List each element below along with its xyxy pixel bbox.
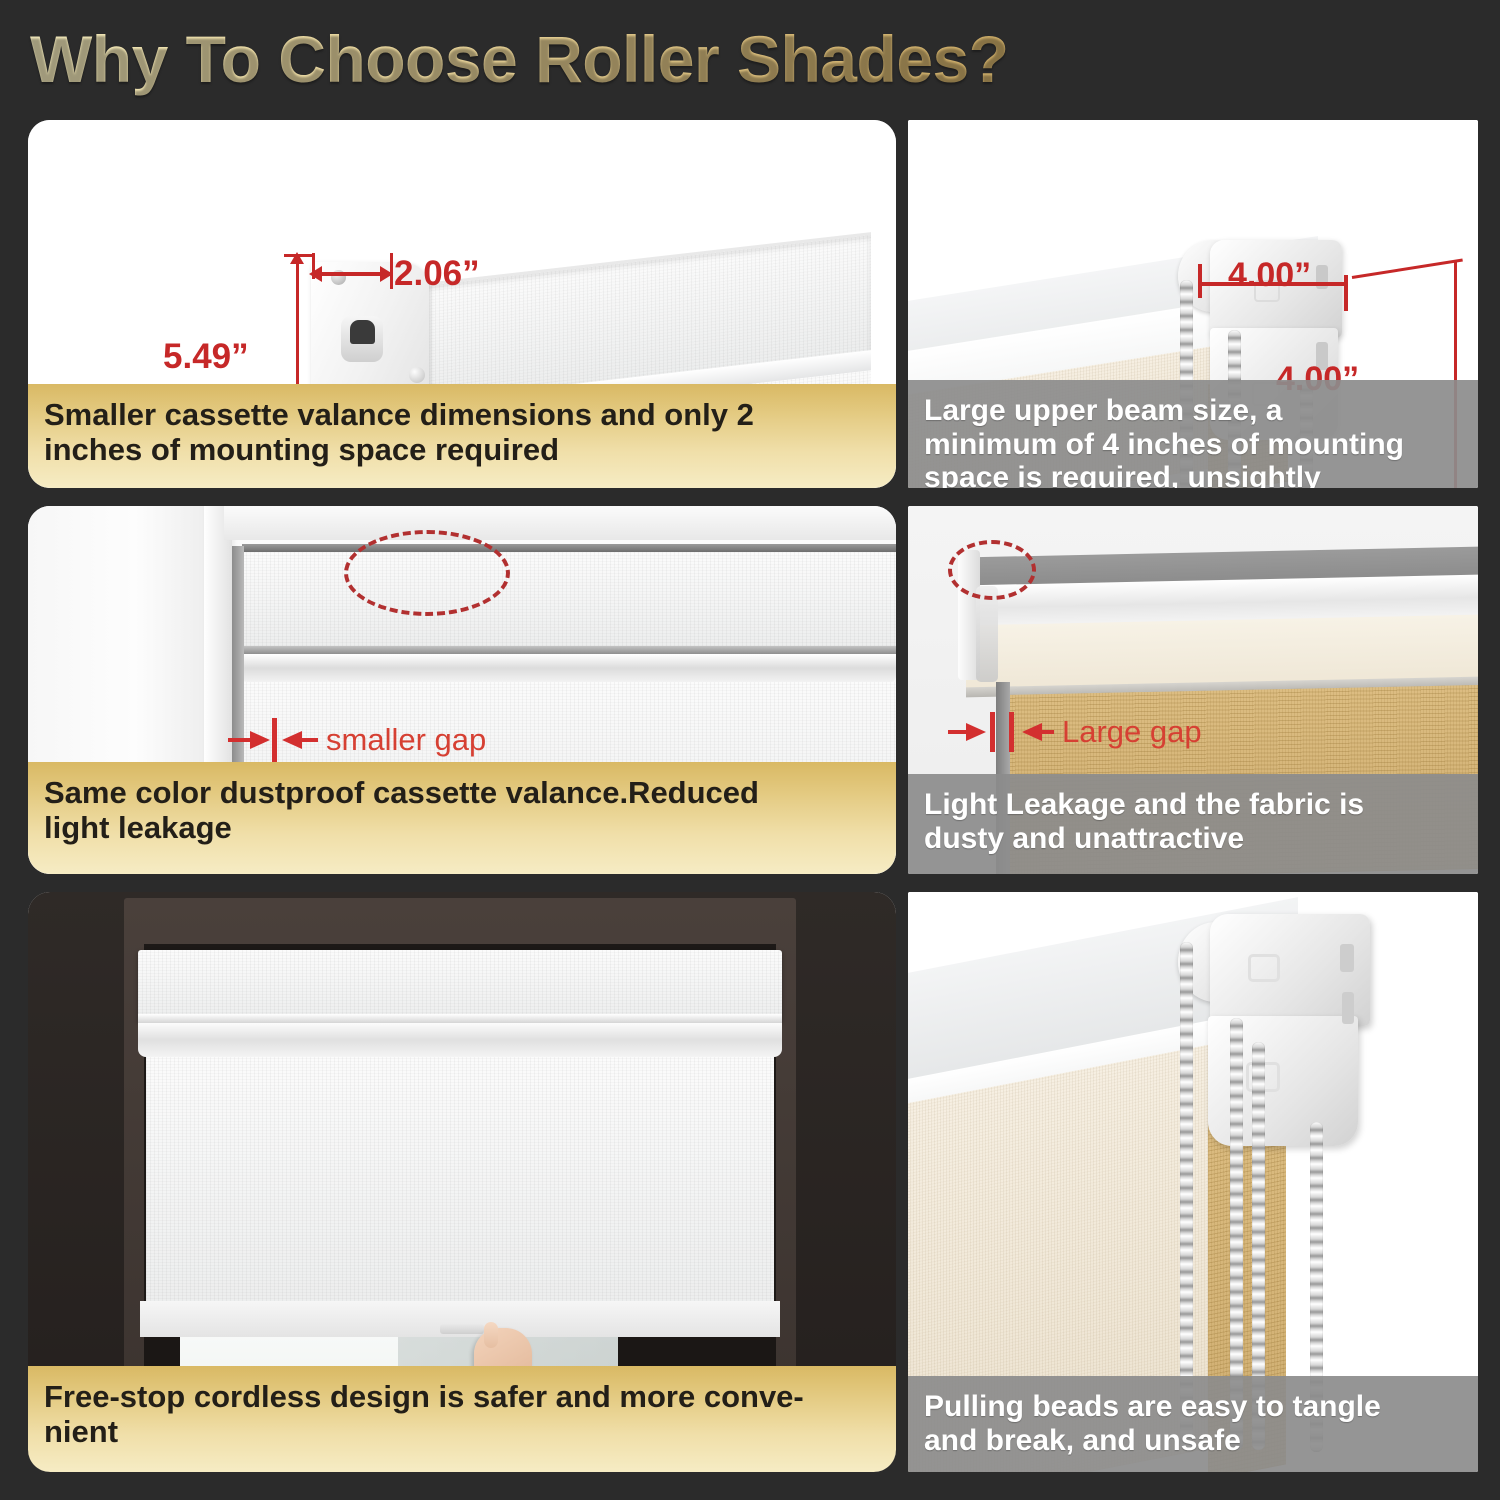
highlight-ellipse [948,540,1036,600]
gap-label: Large gap [1062,714,1202,750]
page-header: Why To Choose Roller Shades? [0,0,1500,118]
caption-bottom-left: Free-stop cordless design is safer and m… [28,1366,896,1472]
caption-middle-left: Same color dustproof cassette valance.Re… [28,762,896,874]
panel-bottom-right: Pulling beads are easy to tangle and bre… [908,892,1478,1472]
caption-top-right: Large upper beam size, a minimum of 4 in… [908,380,1478,488]
caption-middle-right: Light Leakage and the fabric is dusty an… [908,774,1478,874]
caption-bottom-right: Pulling beads are easy to tangle and bre… [908,1376,1478,1472]
bead-chain[interactable] [1180,942,1193,1450]
panel-middle-left: smaller gap Same color dustproof cassett… [28,506,896,874]
panel-top-right: 4.00” 4.00” Large upper beam size, a min… [908,120,1478,488]
panel-middle-right: Large gap Light Leakage and the fabric i… [908,506,1478,874]
dimension-label-width: 4.00” [1228,256,1311,295]
caption-top-left: Smaller cassette valance dimensions and … [28,384,896,488]
page-title: Why To Choose Roller Shades? [0,21,1009,97]
panel-bottom-left: Free-stop cordless design is safer and m… [28,892,896,1472]
panel-top-left: 2.06” 5.49” Smaller cassette valance dim… [28,120,896,488]
highlight-ellipse [344,530,510,616]
gap-marker-smaller: smaller gap [228,718,486,762]
gap-label: smaller gap [326,722,486,758]
dimension-label-width: 2.06” [394,254,480,294]
dimension-label-height: 5.49” [163,337,249,377]
gap-marker-large: Large gap [948,712,1202,752]
